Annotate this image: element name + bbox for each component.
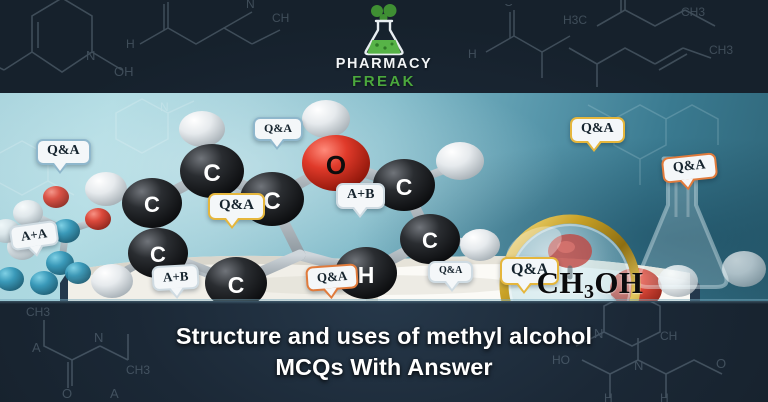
bubble-qa-4[interactable]: Q&A [305, 263, 359, 291]
brand-name-line1: PHARMACY [336, 57, 433, 72]
page-title-line1: Structure and uses of methyl alcohol [176, 321, 592, 352]
atom-label-o: O [326, 150, 346, 180]
atom-label-c: C [396, 174, 413, 200]
bubble-qa-1[interactable]: Q&A [36, 139, 91, 165]
promo-card: N OH O H O N CH O H [0, 0, 768, 402]
bubble-qa-7[interactable]: Q&A [570, 117, 625, 143]
atom-label-c: C [422, 228, 438, 253]
atom-label-c: C [228, 272, 245, 298]
chemical-formula: CH3OH [510, 265, 670, 301]
atom-label-c: C [150, 242, 166, 267]
title-band: Structure and uses of methyl alcohol MCQ… [0, 301, 768, 402]
formula-part2: OH [594, 265, 643, 300]
atom-label-c: C [263, 188, 280, 215]
bubble-ab-1[interactable]: A+B [336, 183, 385, 209]
atom-label-c: C [203, 160, 220, 187]
formula-part1: CH [537, 265, 584, 300]
bubble-qa-2[interactable]: Q&A [253, 117, 303, 141]
bubble-qa-5[interactable]: Q&A [428, 261, 473, 283]
atom-label-c: C [144, 192, 160, 217]
site-header: PHARMACY FREAK [0, 0, 768, 93]
brand-logo[interactable]: PHARMACY FREAK [336, 4, 433, 89]
bubble-qa-3[interactable]: Q&A [208, 193, 265, 220]
atom-label-h: H [358, 262, 375, 288]
flask-icon [355, 4, 413, 56]
page-title-line2: MCQs With Answer [275, 352, 492, 383]
formula-subscript: 3 [584, 281, 594, 301]
bubble-ab-2[interactable]: A+B [151, 264, 200, 291]
brand-name-line2: FREAK [352, 74, 416, 89]
hero-photo: N [0, 93, 768, 301]
